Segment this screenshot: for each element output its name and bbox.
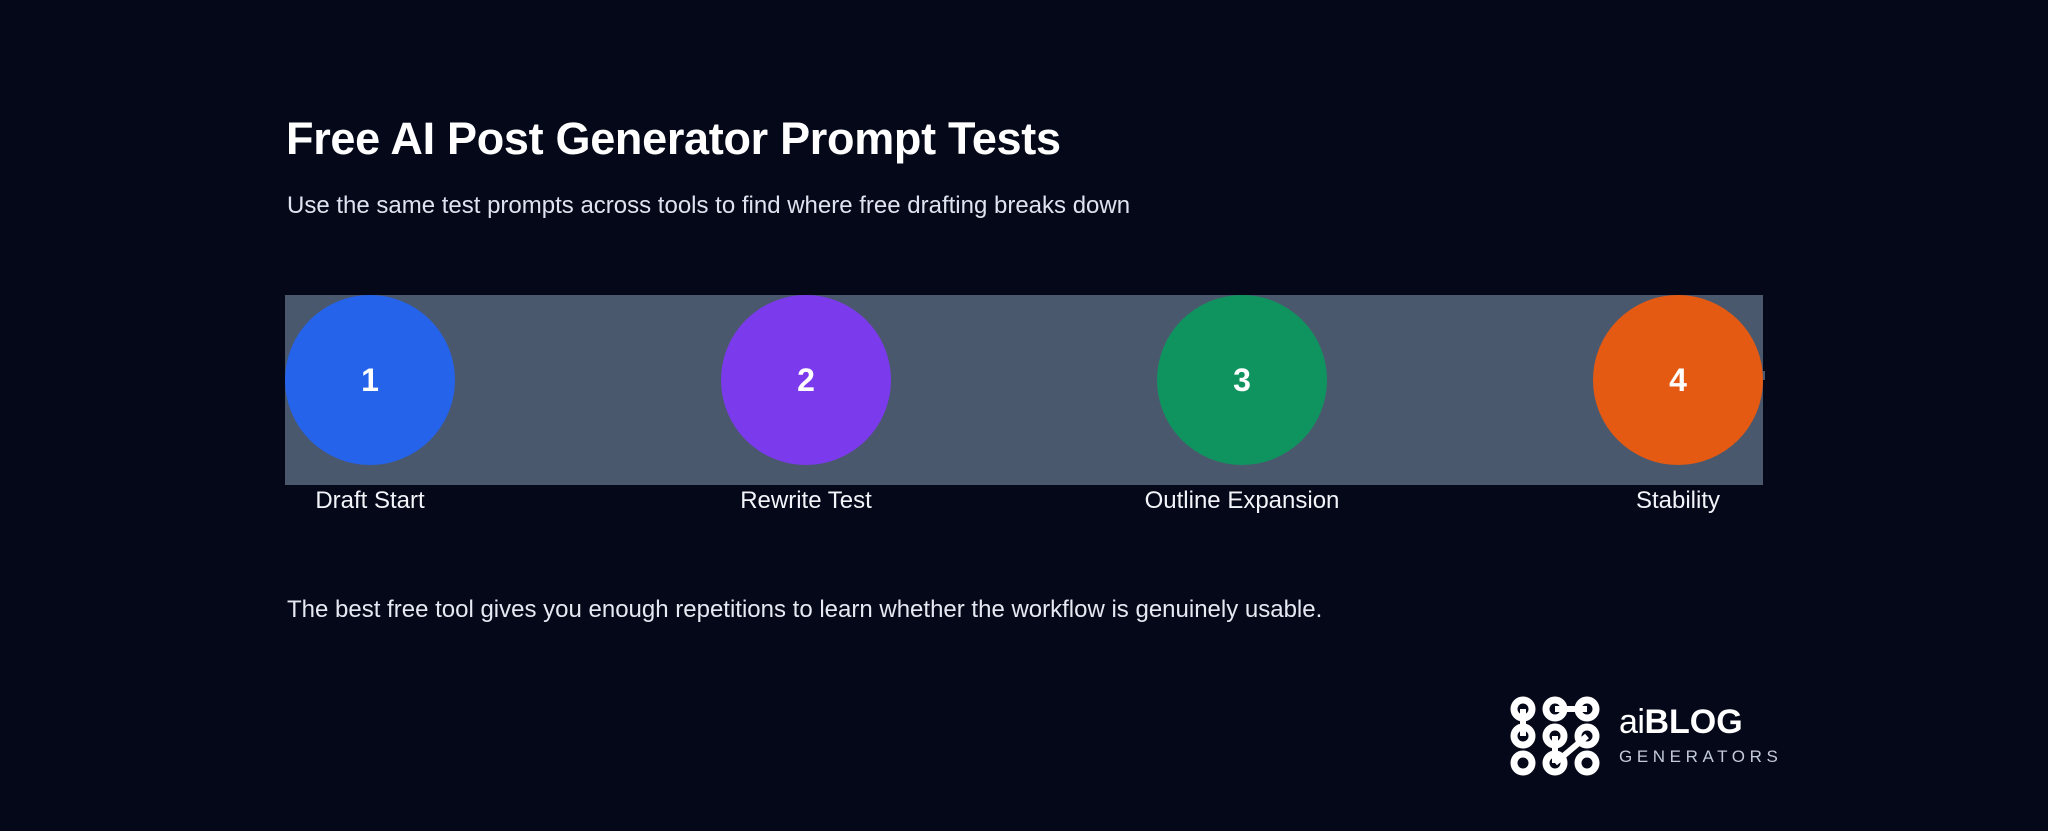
step-number-3: 3 [1233,364,1251,396]
step-label-1: Draft Start [315,487,424,515]
step-circle-1[interactable]: 1 [285,295,455,465]
brand-word-blog: BLOG [1644,705,1742,739]
step-item-2[interactable]: 2 Rewrite Test [721,295,891,515]
page-title: Free AI Post Generator Prompt Tests [286,113,1061,165]
step-circle-3[interactable]: 3 [1157,295,1327,465]
brand-word-ai: ai [1619,705,1644,739]
step-number-4: 4 [1669,364,1687,396]
page-subtitle: Use the same test prompts across tools t… [287,192,1130,220]
step-number-2: 2 [797,364,815,396]
step-label-3: Outline Expansion [1145,487,1340,515]
step-list: 1 Draft Start 2 Rewrite Test 3 Outline E… [285,295,1763,515]
step-circle-4[interactable]: 4 [1593,295,1763,465]
infographic-canvas: Free AI Post Generator Prompt Tests Use … [0,0,2048,831]
dot-grid-network-icon [1509,693,1601,779]
step-item-3[interactable]: 3 Outline Expansion [1157,295,1327,515]
footnote-text: The best free tool gives you enough repe… [287,596,1322,624]
step-label-4: Stability [1636,487,1720,515]
brand-subtitle: GENERATORS [1619,747,1782,767]
step-label-2: Rewrite Test [740,487,872,515]
step-item-1[interactable]: 1 Draft Start [285,295,455,515]
brand-logo-text: ai BLOG GENERATORS [1619,705,1782,767]
brand-wordmark: ai BLOG [1619,705,1782,739]
step-number-1: 1 [361,364,379,396]
step-item-4[interactable]: 4 Stability [1593,295,1763,515]
step-circle-2[interactable]: 2 [721,295,891,465]
brand-logo: ai BLOG GENERATORS [1509,693,1782,779]
process-stepper: 1 Draft Start 2 Rewrite Test 3 Outline E… [285,295,1763,485]
